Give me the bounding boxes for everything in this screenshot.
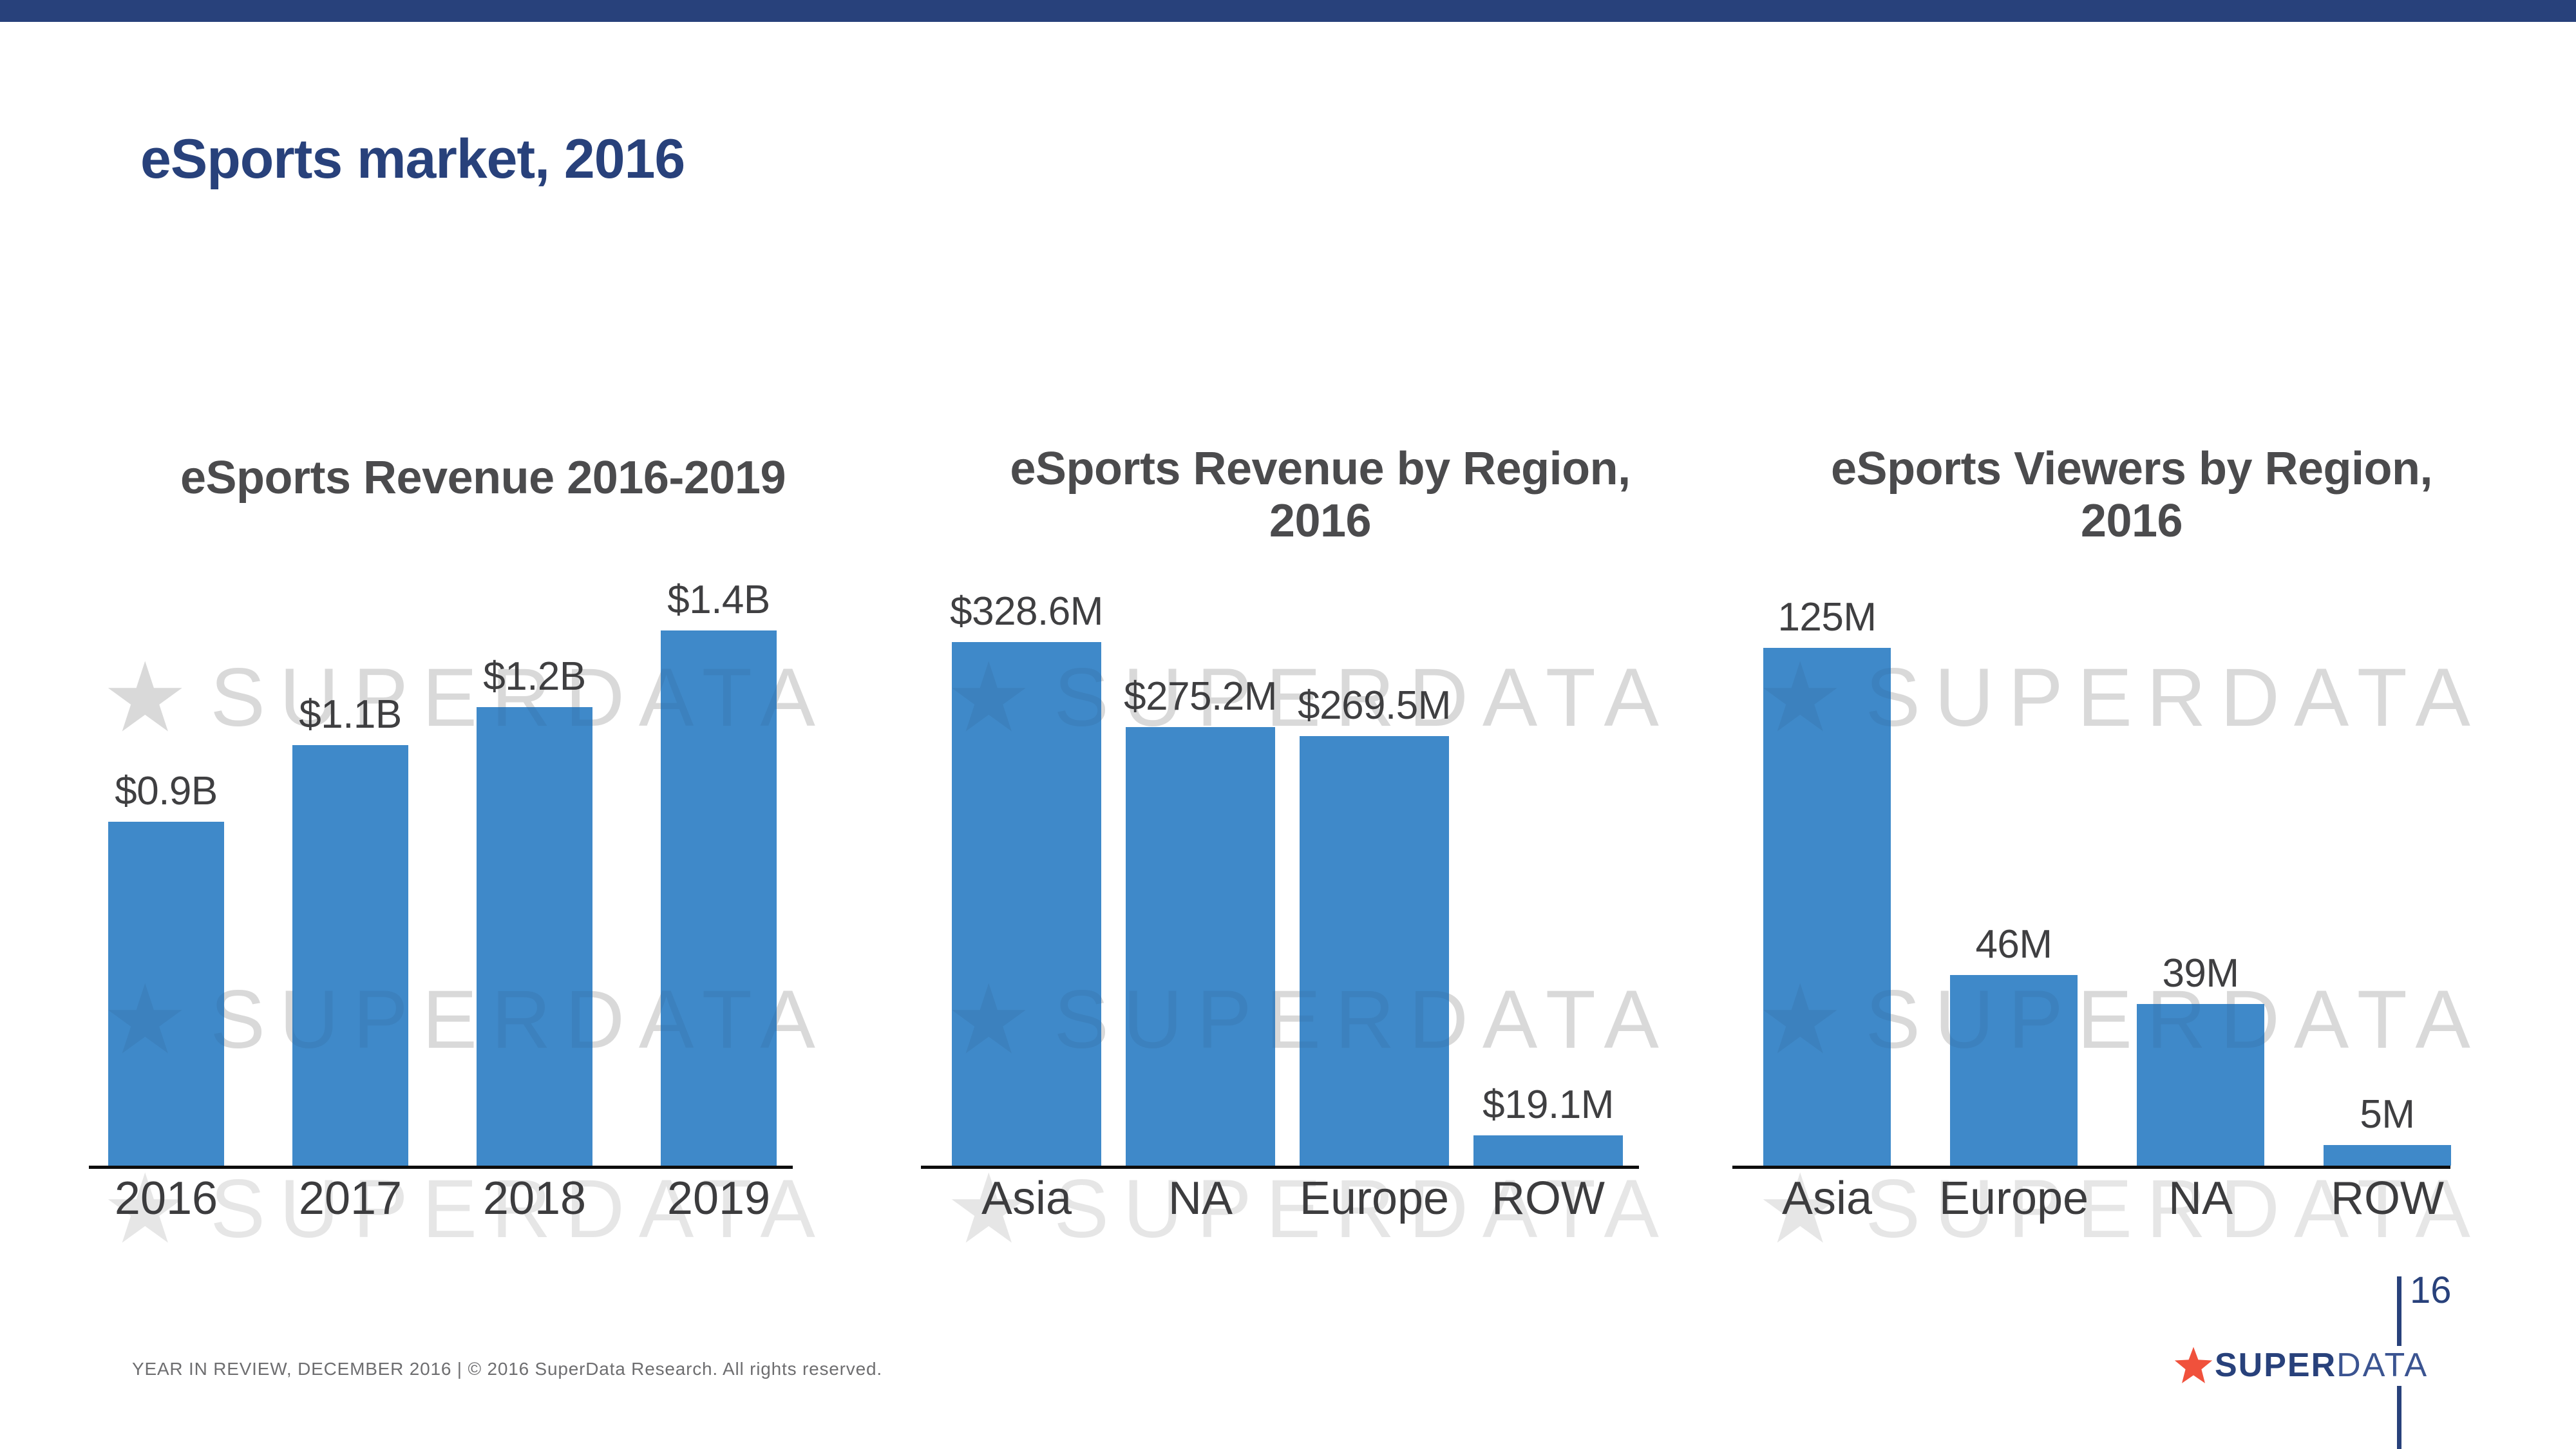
bar-series: $328.6M$275.2M$269.5M$19.1M [952,573,1670,1166]
chart-title: eSports Viewers by Region, 2016 [1732,443,2531,547]
x-axis-categories: ★SUPERDATAAsiaEuropeNAROW [1732,1172,2531,1236]
bar-rect [1950,975,2078,1166]
bar-item[interactable]: 39M [2137,573,2264,1166]
bar-item[interactable]: 125M [1763,573,1891,1166]
bar-rect [1763,648,1891,1166]
plot-area: ★SUPERDATA★SUPERDATA$328.6M$275.2M$269.5… [952,573,1670,1166]
x-axis-label: Europe [1939,1172,2088,1225]
chart-panel-viewers-by-region: eSports Viewers by Region, 2016★SUPERDAT… [1732,412,2531,1262]
plot-area: ★SUPERDATA★SUPERDATA125M46M39M5M★SUPERDA… [1763,573,2481,1166]
x-axis-categories: ★SUPERDATA2016201720182019 [84,1172,882,1236]
bar-item[interactable]: $328.6M [952,573,1101,1166]
bar-item[interactable]: $19.1M [1473,573,1623,1166]
bar-value-label: 39M [2162,951,2239,996]
bar-value-label: 125M [1777,594,1876,640]
bar-rect [1126,727,1275,1166]
bar-rect [477,707,592,1166]
bar-series: $0.9B$1.1B$1.2B$1.4B [108,573,826,1166]
top-accent-bar [0,0,2576,22]
page-rule-bottom [2397,1386,2401,1449]
bar-rect [952,642,1101,1166]
slide-canvas: eSports market, 2016 eSports Revenue 201… [0,0,2576,1449]
x-axis-label: Asia [1782,1172,1872,1225]
chart-title: eSports Revenue by Region, 2016 [921,443,1719,547]
footer-copyright: YEAR IN REVIEW, DECEMBER 2016 | © 2016 S… [132,1359,882,1379]
x-axis-label: 2019 [667,1172,770,1225]
x-axis-label: ROW [2331,1172,2444,1225]
superdata-logo: SUPERDATA [2173,1343,2429,1388]
page-rule-top [2397,1276,2401,1346]
bar-rect [661,630,777,1166]
bar-value-label: $275.2M [1124,674,1277,719]
chart-panel-revenue-by-region: eSports Revenue by Region, 2016★SUPERDAT… [921,412,1719,1262]
x-axis-label: ROW [1492,1172,1605,1225]
page-number: 16 [2410,1272,2452,1309]
plot-area: ★SUPERDATA★SUPERDATA$0.9B$1.1B$1.2B$1.4B… [108,573,826,1166]
bar-item[interactable]: $1.4B [661,573,777,1166]
bar-value-label: $1.2B [483,654,586,699]
bar-item[interactable]: 5M [2324,573,2451,1166]
bar-rect [1300,736,1449,1166]
bar-value-label: $1.4B [667,577,770,623]
bar-item[interactable]: $1.2B [477,573,592,1166]
bar-series: 125M46M39M5M [1763,573,2481,1166]
bar-rect [108,822,224,1166]
bar-value-label: $269.5M [1298,683,1451,728]
chart-title: eSports Revenue 2016-2019 [84,452,882,504]
bar-item[interactable]: $275.2M [1126,573,1275,1166]
logo-wordmark: SUPERDATA [2215,1349,2429,1382]
x-axis-label: 2016 [115,1172,218,1225]
bar-value-label: 5M [2360,1092,2414,1137]
bar-item[interactable]: $0.9B [108,573,224,1166]
logo-super-text: SUPER [2215,1347,2336,1384]
x-axis-label: 2018 [483,1172,586,1225]
logo-data-text: DATA [2336,1347,2429,1384]
bar-value-label: 46M [1975,922,2052,967]
bar-value-label: $19.1M [1482,1082,1614,1128]
x-axis-label: NA [1168,1172,1233,1225]
bar-value-label: $328.6M [950,589,1103,634]
x-axis-label: Asia [981,1172,1072,1225]
bar-rect [2137,1004,2264,1166]
chart-panel-revenue-2016-2019: eSports Revenue 2016-2019★SUPERDATA★SUPE… [84,412,882,1262]
bar-value-label: $0.9B [115,768,218,814]
bar-rect [292,745,408,1166]
x-axis-categories: ★SUPERDATAAsiaNAEuropeROW [921,1172,1719,1236]
x-axis-label: Europe [1300,1172,1449,1225]
star-icon [2173,1345,2213,1385]
page-title: eSports market, 2016 [140,128,685,191]
bar-value-label: $1.1B [299,692,402,737]
bar-item[interactable]: 46M [1950,573,2078,1166]
x-axis-label: 2017 [299,1172,402,1225]
bar-item[interactable]: $269.5M [1300,573,1449,1166]
bar-item[interactable]: $1.1B [292,573,408,1166]
x-axis-label: NA [2168,1172,2233,1225]
